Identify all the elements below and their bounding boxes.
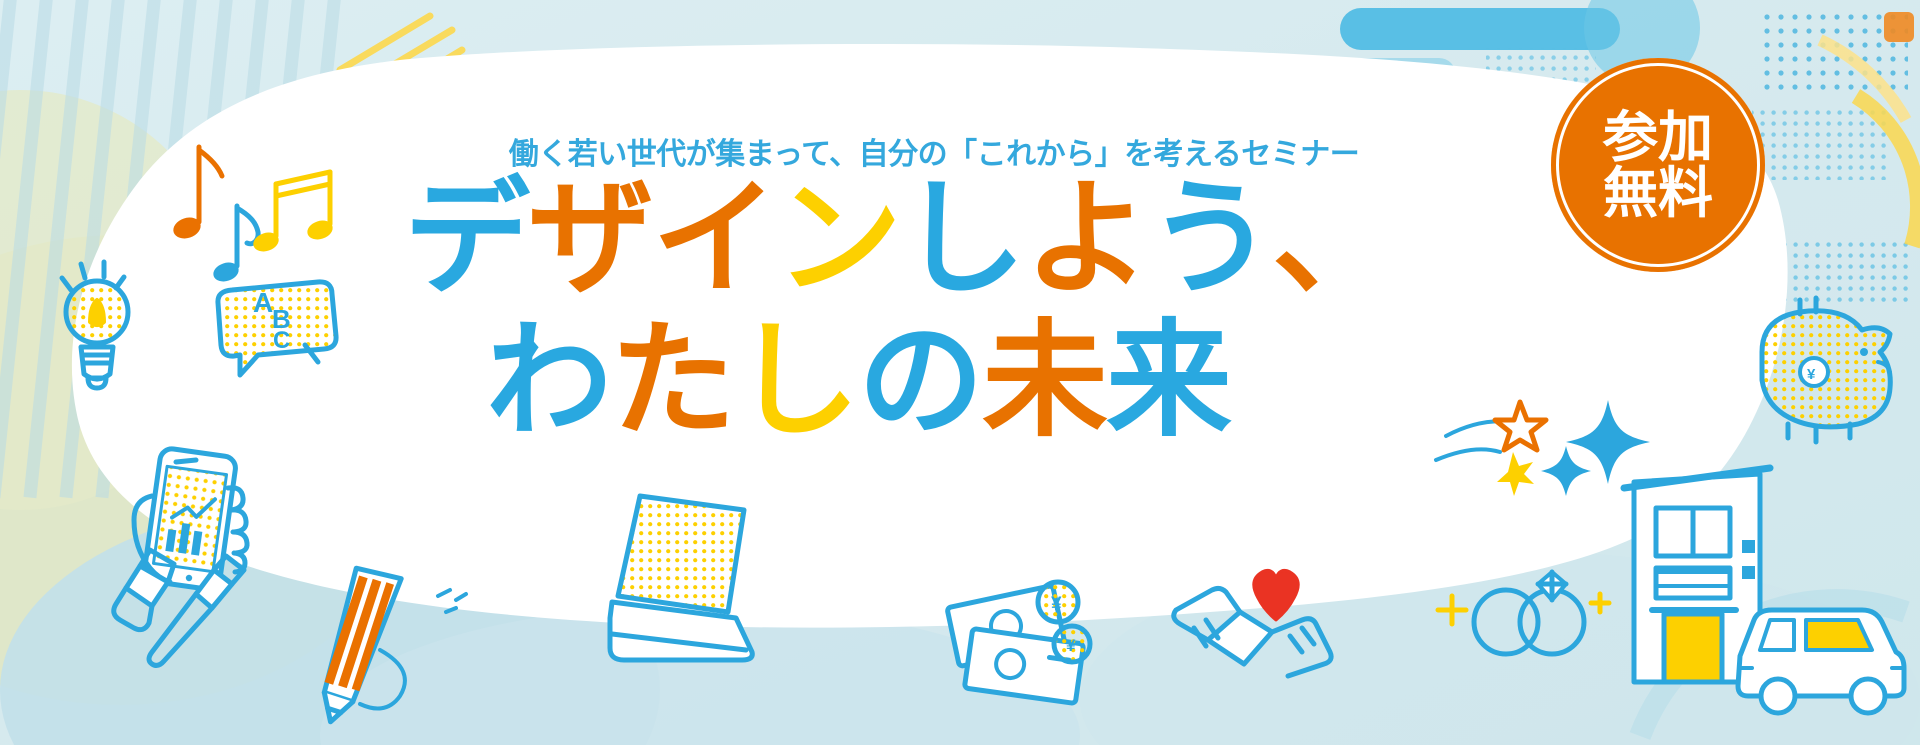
music-note-orange-icon [171,147,222,242]
free-participation-badge[interactable]: 参加 無料 [1551,58,1765,272]
laptop-icon [610,496,752,660]
lightbulb-icon [62,262,128,388]
abc-speech-bubble-icon: A B C [218,282,336,375]
svg-text:¥: ¥ [1066,636,1076,655]
svg-text:C: C [273,327,290,354]
svg-text:¥: ¥ [1051,594,1062,615]
handshake-heart-icon [1174,570,1331,676]
badge-line-1: 参加 [1603,109,1713,165]
seminar-banner: A B C [0,0,1920,745]
svg-text:¥: ¥ [1807,366,1816,383]
badge-line-2: 無料 [1603,165,1713,221]
piggy-bank-icon: ¥ [1762,298,1890,442]
music-note-yellow-icon [251,172,335,255]
svg-text:A: A [253,287,273,318]
rings-icon [1474,572,1584,654]
car-icon [1738,610,1904,713]
smartphone-chart-icon [134,447,247,590]
music-note-blue-icon [211,206,258,285]
pencil-icon [316,564,466,726]
shooting-star-icon [1436,402,1546,496]
